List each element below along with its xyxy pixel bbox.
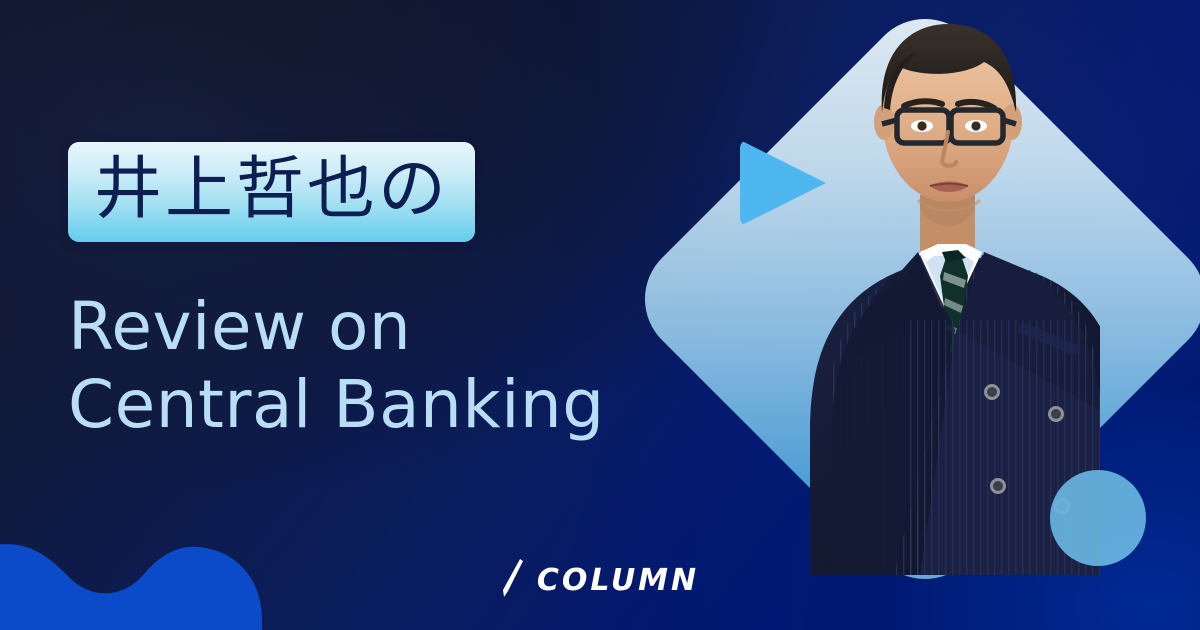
column-banner: 井上哲也の Review on Central Banking COLUMN — [0, 0, 1200, 630]
pen-nib-icon — [501, 559, 523, 602]
title-line-1: Review on — [68, 288, 688, 366]
headline-block: 井上哲也の Review on Central Banking — [68, 142, 688, 444]
artwork-composition — [620, 0, 1200, 630]
author-name-badge: 井上哲也の — [68, 142, 475, 242]
page-title: Review on Central Banking — [68, 288, 688, 444]
column-logo: COLUMN — [0, 559, 1200, 602]
column-logo-text: COLUMN — [537, 563, 699, 598]
portrait-photo — [770, 0, 1100, 575]
title-line-2: Central Banking — [68, 366, 688, 444]
light-blue-circle-shape — [1050, 470, 1146, 566]
author-name-text: 井上哲也の — [94, 156, 449, 224]
